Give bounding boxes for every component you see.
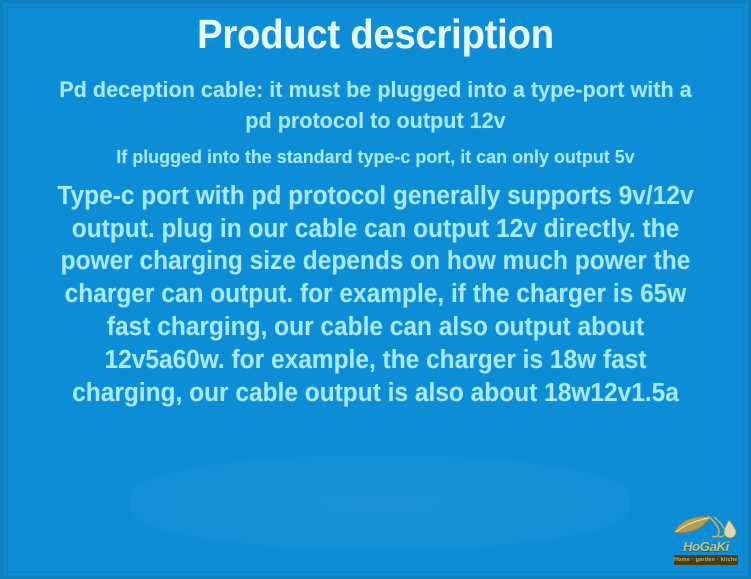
page-title: Product description	[39, 0, 711, 56]
description-paragraph-note: If plugged into the standard type-c port…	[25, 145, 726, 169]
description-paragraph-lead: Pd deception cable: it must be plugged i…	[28, 75, 722, 136]
banner-content: Product description Pd deception cable: …	[0, 0, 751, 579]
brand-tagline: Home · garden · kitchen	[674, 555, 738, 565]
brand-logo: HoGaKi Home · garden · kitchen	[670, 511, 742, 567]
description-paragraph-body: Type-c port with pd protocol generally s…	[28, 180, 722, 410]
product-description-banner: Product description Pd deception cable: …	[0, 0, 751, 579]
leaf-droplet-icon	[670, 511, 742, 541]
brand-name: HoGaKi	[670, 540, 742, 554]
